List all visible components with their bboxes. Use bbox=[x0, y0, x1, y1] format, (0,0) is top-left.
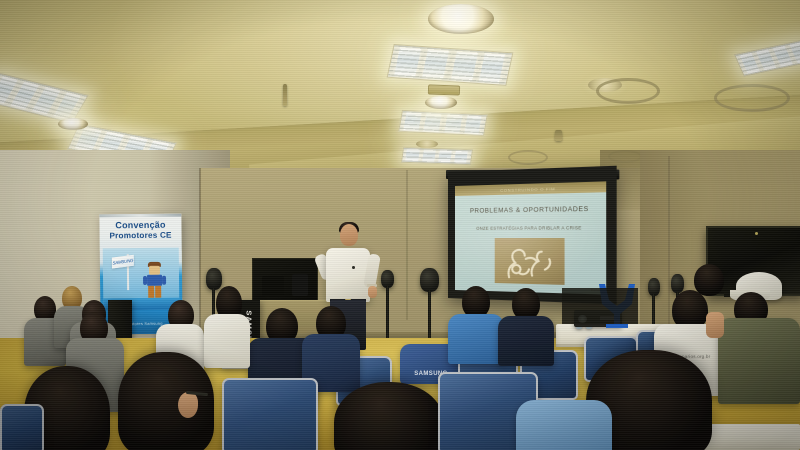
recessed-downlight-ring bbox=[596, 78, 660, 104]
recessed-downlight-ring bbox=[714, 84, 790, 112]
speaker-on-stand bbox=[206, 268, 222, 290]
conference-room-photo: CONSTRUINDO O FIM PROBLEMAS & OPORTUNIDA… bbox=[0, 0, 800, 450]
samsung-flag: SAMSUNG bbox=[112, 255, 134, 269]
fluorescent-troffer bbox=[398, 110, 488, 136]
tv-power-led bbox=[755, 232, 758, 235]
recessed-downlight bbox=[425, 96, 457, 109]
slide-illustration bbox=[495, 238, 565, 285]
wall-seam bbox=[406, 170, 408, 320]
flag-label: SAMSUNG bbox=[112, 258, 133, 266]
audience-head bbox=[334, 382, 444, 450]
audience-torso bbox=[448, 314, 504, 364]
banner-top-rail bbox=[99, 214, 181, 218]
background-equipment bbox=[292, 274, 308, 296]
slide-title: PROBLEMAS & OPORTUNIDADES bbox=[455, 205, 606, 215]
audience-torso bbox=[516, 400, 612, 450]
recessed-downlight-ring bbox=[508, 150, 548, 165]
audience-ear bbox=[178, 392, 198, 418]
abstract-figure-icon bbox=[495, 238, 565, 285]
conference-chair bbox=[222, 378, 318, 450]
audience-head bbox=[694, 264, 724, 296]
mascot-body bbox=[147, 275, 162, 286]
recessed-downlight bbox=[416, 140, 438, 148]
mascot-arm bbox=[143, 276, 147, 285]
sprinkler-head bbox=[283, 84, 287, 106]
presenter-hand-right bbox=[368, 286, 377, 298]
sprinkler-head bbox=[555, 130, 562, 141]
wall-seam bbox=[199, 168, 201, 348]
conference-chair bbox=[0, 404, 44, 450]
conference-table bbox=[700, 424, 800, 450]
banner-heading: Convenção Promotores CE bbox=[99, 220, 181, 241]
mascot-arm bbox=[162, 276, 166, 285]
audience-torso bbox=[498, 316, 554, 366]
fluorescent-troffer bbox=[401, 147, 473, 165]
audience-torso bbox=[204, 314, 250, 368]
audience-head bbox=[118, 352, 214, 450]
air-vent bbox=[428, 84, 460, 95]
wall-seam bbox=[668, 156, 670, 346]
mascot-leg bbox=[155, 286, 161, 298]
banner-line-2: Promotores CE bbox=[100, 230, 182, 241]
audience-torso bbox=[718, 318, 800, 404]
sculpture-backdrop bbox=[562, 288, 638, 324]
background-equipment bbox=[262, 276, 284, 296]
slide-subtitle: ONZE ESTRATÉGIAS PARA DRIBLAR A CRISE bbox=[455, 225, 606, 231]
speaker-on-stand bbox=[420, 268, 439, 292]
mascot-head bbox=[149, 266, 160, 275]
recessed-downlight bbox=[428, 4, 494, 34]
recessed-downlight bbox=[58, 118, 88, 130]
presenter-head bbox=[340, 224, 358, 246]
lapel-microphone bbox=[352, 266, 355, 269]
presenter-shirt bbox=[326, 248, 370, 302]
mascot-leg bbox=[148, 286, 154, 298]
projection-screen: CONSTRUINDO O FIM PROBLEMAS & OPORTUNIDA… bbox=[455, 181, 606, 294]
slide-header-text: CONSTRUINDO O FIM bbox=[500, 186, 555, 193]
speaker-on-stand bbox=[671, 274, 684, 293]
banner-line-1: Convenção bbox=[115, 220, 165, 231]
audience-hand bbox=[706, 312, 724, 338]
speaker-stand-pole bbox=[386, 286, 389, 344]
